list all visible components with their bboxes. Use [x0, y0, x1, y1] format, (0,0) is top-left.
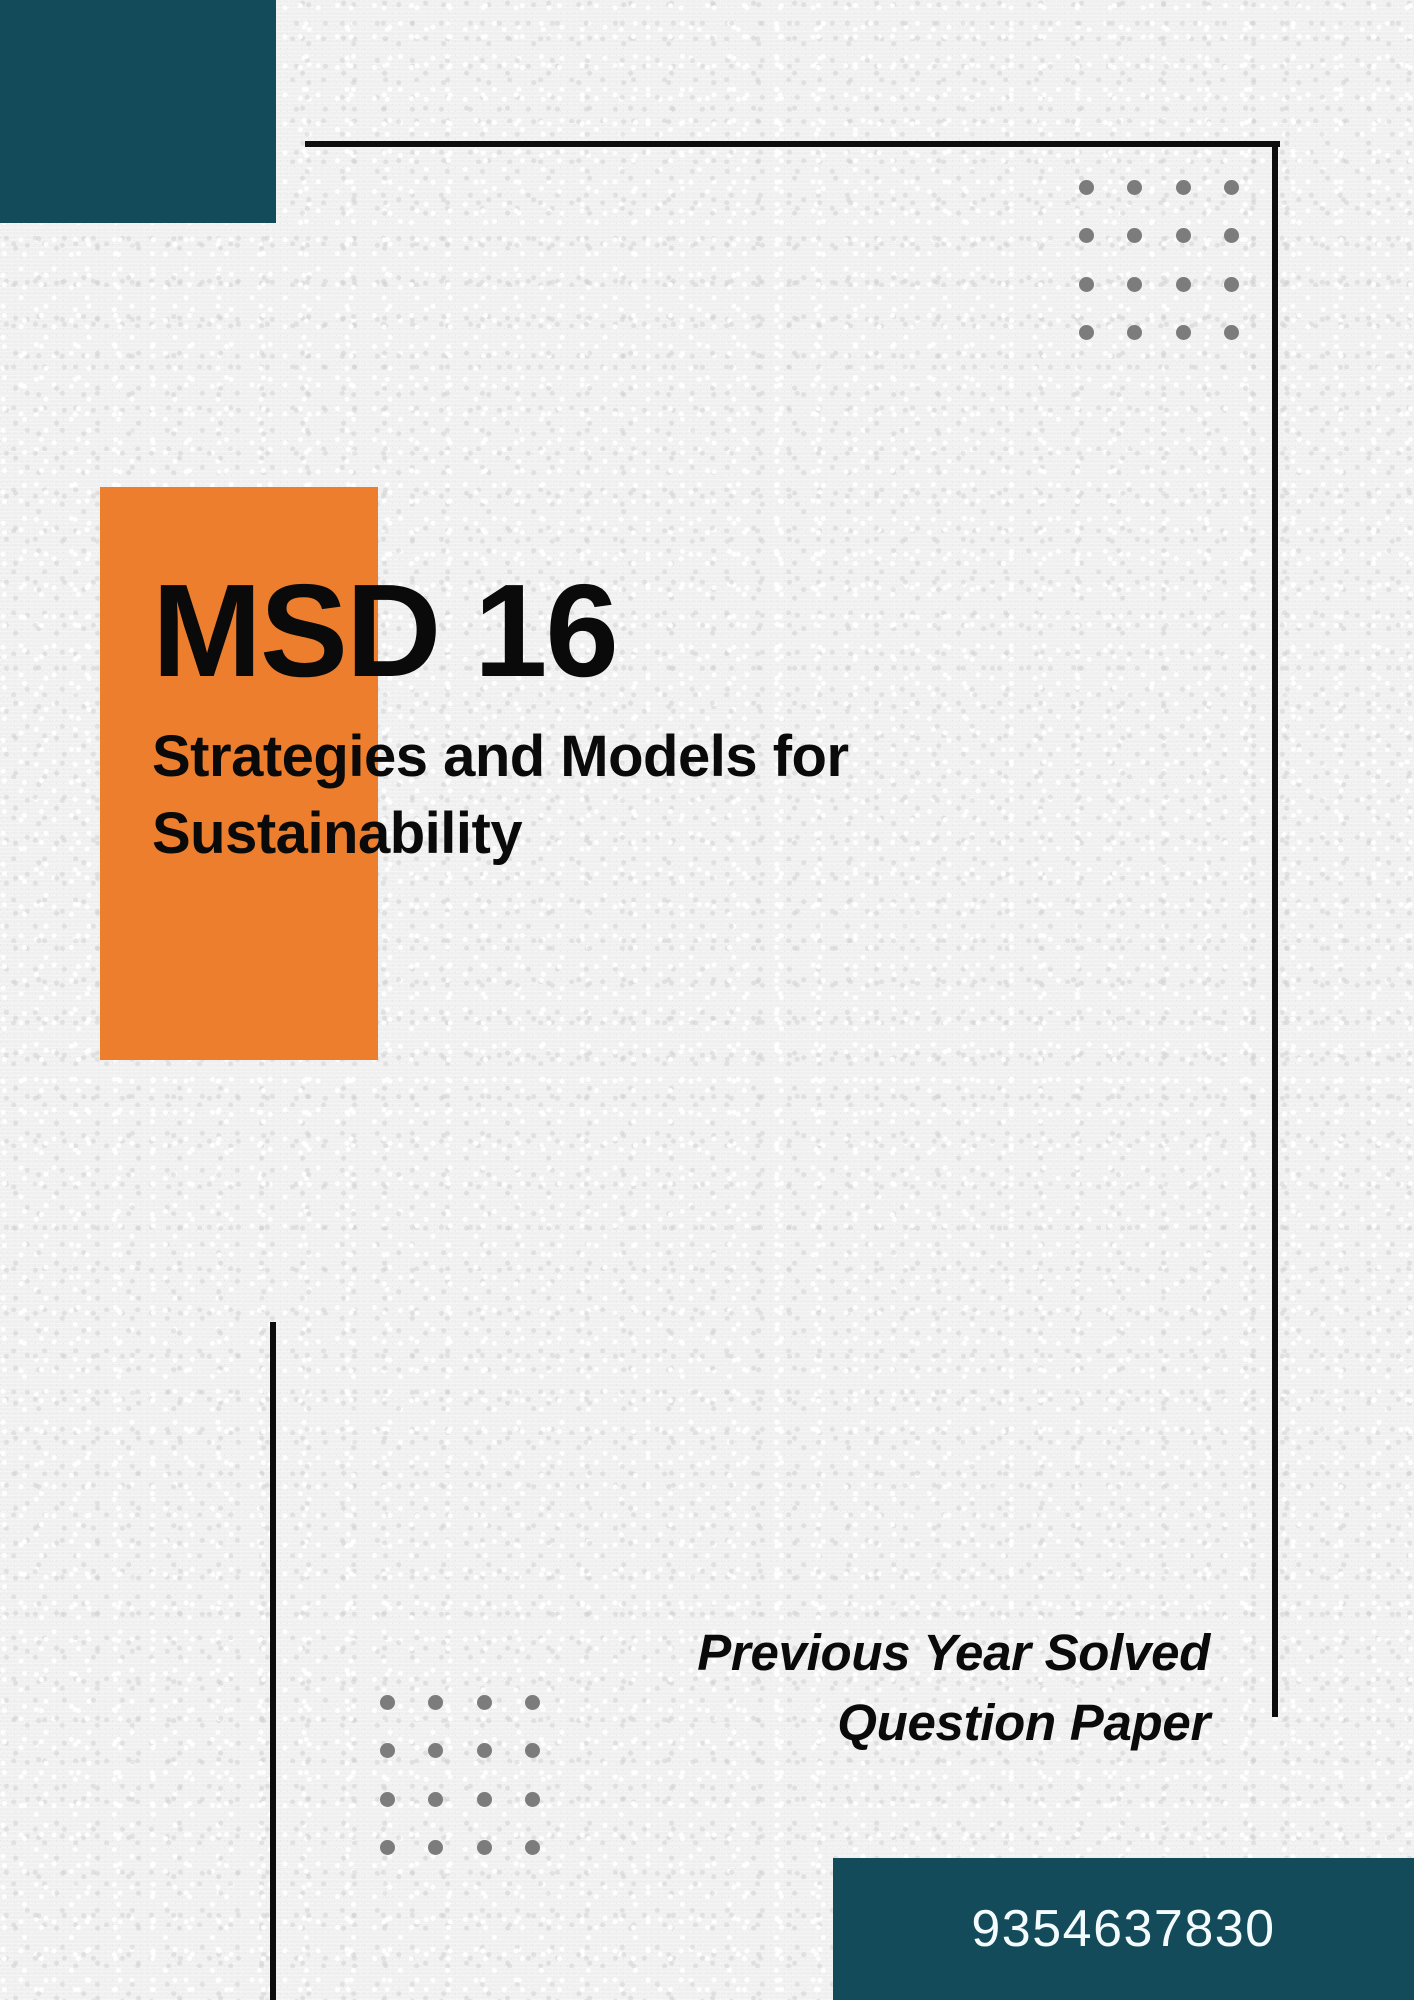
- dot: [477, 1840, 492, 1855]
- document-type-label: Previous Year Solved Question Paper: [450, 1618, 1210, 1759]
- dot: [525, 1840, 540, 1855]
- dot: [1079, 180, 1094, 195]
- dot: [477, 1792, 492, 1807]
- dot: [428, 1743, 443, 1758]
- dot: [1224, 325, 1239, 340]
- title-group: MSD 16 Strategies and Models for Sustain…: [152, 565, 1112, 872]
- document-type-line-1: Previous Year Solved: [450, 1618, 1210, 1688]
- dot: [1176, 180, 1191, 195]
- course-code: MSD 16: [152, 565, 1112, 697]
- dot: [1079, 277, 1094, 292]
- dot: [380, 1792, 395, 1807]
- dot: [1224, 277, 1239, 292]
- frame-rule-right: [1272, 141, 1278, 1717]
- dot: [1127, 180, 1142, 195]
- teal-block-top-left: [0, 0, 276, 223]
- dot: [428, 1695, 443, 1710]
- document-type-line-2: Question Paper: [450, 1688, 1210, 1758]
- dot: [1176, 325, 1191, 340]
- dot: [1176, 277, 1191, 292]
- frame-rule-left: [270, 1322, 276, 2000]
- dot: [380, 1743, 395, 1758]
- dot: [428, 1792, 443, 1807]
- dot-grid-top-right: [1079, 180, 1239, 340]
- dot: [1127, 228, 1142, 243]
- dot: [1079, 325, 1094, 340]
- dot: [1224, 180, 1239, 195]
- dot: [428, 1840, 443, 1855]
- dot: [525, 1792, 540, 1807]
- dot: [380, 1840, 395, 1855]
- cover-page: MSD 16 Strategies and Models for Sustain…: [0, 0, 1414, 2000]
- dot: [1127, 325, 1142, 340]
- frame-rule-top: [305, 141, 1280, 147]
- dot: [1224, 228, 1239, 243]
- dot: [1127, 277, 1142, 292]
- dot: [1079, 228, 1094, 243]
- dot: [380, 1695, 395, 1710]
- course-title: Strategies and Models for Sustainability: [152, 719, 952, 872]
- dot: [1176, 228, 1191, 243]
- phone-number: 9354637830: [833, 1858, 1414, 2000]
